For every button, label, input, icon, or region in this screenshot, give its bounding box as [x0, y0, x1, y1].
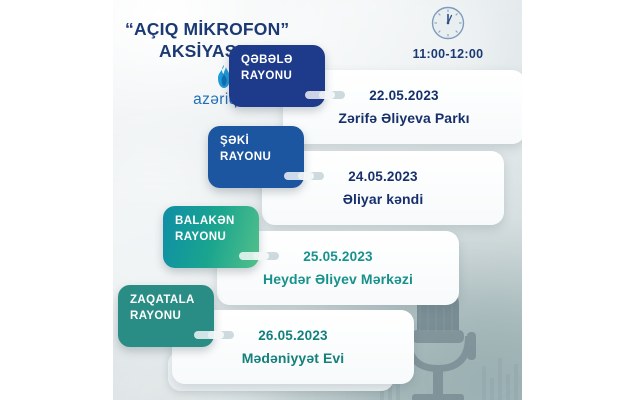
district-suffix: RAYONU — [241, 70, 325, 82]
district-tag: ŞƏKİ RAYONU — [208, 126, 304, 188]
event-place: Mədəniyyət Evi — [242, 350, 345, 366]
district-suffix: RAYONU — [130, 310, 214, 322]
title-line-1: “AÇIQ MİKROFON” — [125, 19, 289, 39]
tag-hook-icon — [284, 168, 326, 184]
event-row: 24.05.2023 Əliyar kəndi ŞƏKİ RAYONU — [208, 126, 502, 200]
event-row: 26.05.2023 Mədəniyyət Evi ZAQATALA RAYON… — [118, 285, 412, 359]
district-suffix: RAYONU — [175, 231, 259, 243]
tag-hook-icon — [305, 87, 347, 103]
event-row: 22.05.2023 Zərifə Əliyeva Parkı QƏBƏLƏ R… — [229, 45, 522, 119]
event-date: 26.05.2023 — [258, 328, 328, 343]
event-date: 24.05.2023 — [348, 169, 418, 184]
district-name: ZAQATALA — [130, 294, 214, 306]
event-place: Zərifə Əliyeva Parkı — [338, 110, 469, 126]
district-name: QƏBƏLƏ — [241, 54, 325, 66]
district-tag: BALAKƏN RAYONU — [163, 206, 259, 268]
district-name: BALAKƏN — [175, 215, 259, 227]
clock-icon — [431, 6, 465, 40]
event-date: 25.05.2023 — [303, 249, 373, 264]
district-name: ŞƏKİ — [220, 135, 304, 147]
event-row: 25.05.2023 Heydər Əliyev Mərkəzi BALAKƏN… — [163, 206, 457, 280]
event-date: 22.05.2023 — [369, 88, 439, 103]
district-suffix: RAYONU — [220, 151, 304, 163]
event-place: Əliyar kəndi — [343, 191, 424, 207]
district-tag: ZAQATALA RAYONU — [118, 285, 214, 347]
poster-canvas: “AÇIQ MİKROFON” AKSİYASI azəriqaz 11:00-… — [113, 0, 522, 400]
district-tag: QƏBƏLƏ RAYONU — [229, 45, 325, 107]
tag-hook-icon — [194, 327, 236, 343]
tag-hook-icon — [239, 248, 281, 264]
